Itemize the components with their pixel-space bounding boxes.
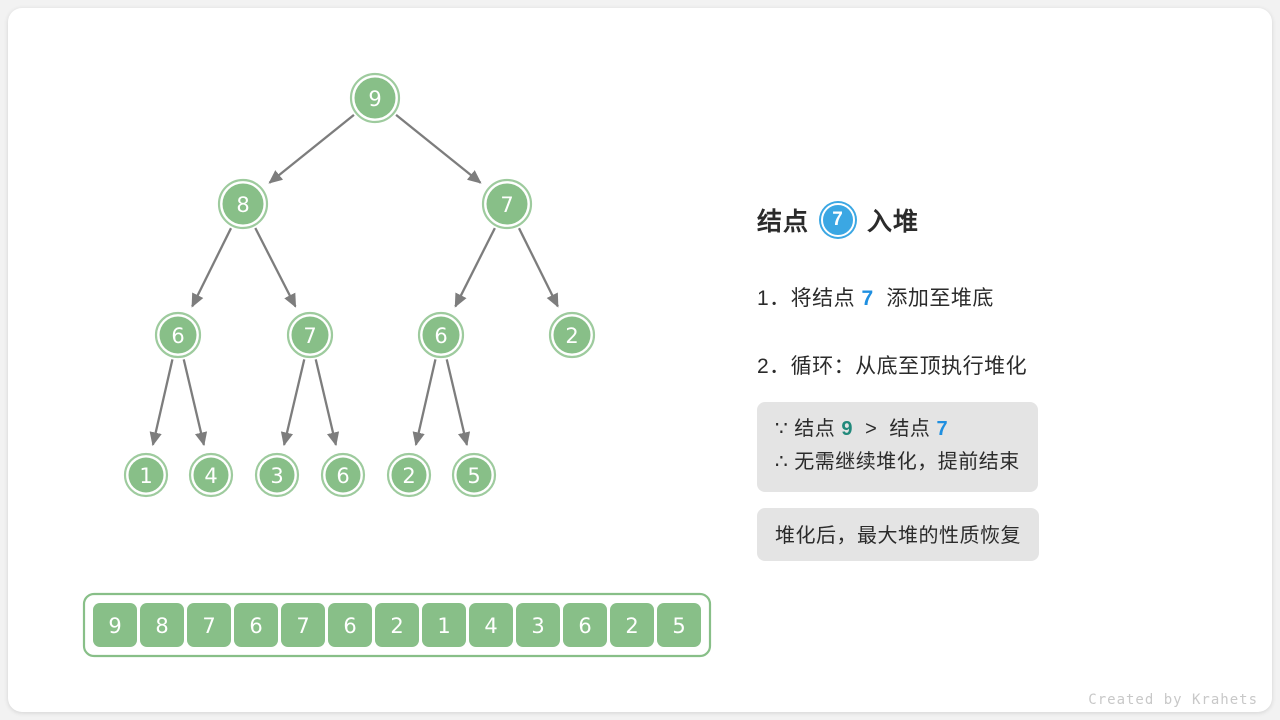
tree-edge (396, 115, 480, 183)
tree-edge (316, 359, 336, 444)
explanation-panel: 结点 7 入堆 1．将结点 7 添加至堆底 2．循环：从底至顶执行堆化 ∵ 结点… (757, 196, 1227, 561)
tree-edge (284, 359, 304, 444)
node-value: 2 (565, 324, 578, 348)
tree-edge (270, 115, 354, 183)
node-value: 8 (236, 193, 249, 217)
tree-edge (447, 359, 467, 444)
node-value: 1 (139, 464, 152, 488)
note-line-1-mid: > 结点 (853, 418, 936, 440)
array-cell[interactable]: 6 (234, 603, 278, 647)
tree-nodes: 9876762143625 (125, 74, 594, 496)
array-cell[interactable]: 1 (422, 603, 466, 647)
note-line-2: ∴ 无需继续堆化，提前结束 (775, 446, 1020, 479)
array-cell[interactable]: 6 (563, 603, 607, 647)
tree-node[interactable]: 4 (190, 454, 232, 496)
step-1-value: 7 (862, 287, 874, 310)
array-cell[interactable]: 2 (375, 603, 419, 647)
array-cell-value: 2 (390, 614, 403, 638)
panel-title: 结点 7 入堆 (757, 196, 1227, 244)
step-1: 1．将结点 7 添加至堆底 (757, 282, 1227, 312)
tree-node[interactable]: 9 (351, 74, 399, 122)
array-cell-value: 8 (155, 614, 168, 638)
panel-title-suffix: 入堆 (867, 202, 919, 238)
node-value: 7 (500, 193, 513, 217)
array-cell-value: 2 (625, 614, 638, 638)
panel-title-badge: 7 (821, 203, 855, 237)
tree-edge (455, 228, 494, 306)
array-cell-value: 6 (578, 614, 591, 638)
array-cell[interactable]: 4 (469, 603, 513, 647)
tree-node[interactable]: 6 (156, 313, 200, 357)
note-line-1-a: 结点 (794, 418, 841, 440)
tree-node[interactable]: 6 (419, 313, 463, 357)
footer-credit: Created by Krahets (1088, 692, 1258, 708)
result-text: 堆化后，最大堆的性质恢复 (775, 519, 1021, 548)
array-cell[interactable]: 3 (516, 603, 560, 647)
array-cell[interactable]: 9 (93, 603, 137, 647)
tree-node[interactable]: 3 (256, 454, 298, 496)
node-value: 5 (467, 464, 480, 488)
node-value: 6 (171, 324, 184, 348)
array-cell[interactable]: 6 (328, 603, 372, 647)
array-cell-value: 7 (202, 614, 215, 638)
node-value: 3 (270, 464, 283, 488)
result-box: 堆化后，最大堆的性质恢复 (757, 508, 1039, 561)
tree-edge (192, 228, 231, 306)
array-cell-value: 3 (531, 614, 544, 638)
tree-edge (153, 359, 173, 444)
node-value: 4 (204, 464, 217, 488)
tree-node[interactable]: 7 (288, 313, 332, 357)
node-value: 9 (368, 87, 381, 111)
because-symbol: ∵ (775, 418, 794, 440)
tree-edge (255, 228, 295, 306)
node-value: 7 (303, 324, 316, 348)
array-cell[interactable]: 8 (140, 603, 184, 647)
array-cell-value: 9 (108, 614, 121, 638)
binary-tree-diagram: 9876762143625 (0, 0, 740, 560)
tree-node[interactable]: 6 (322, 454, 364, 496)
tree-edge (416, 359, 436, 444)
array-cell-value: 1 (437, 614, 450, 638)
node-value: 6 (336, 464, 349, 488)
array-cell-value: 5 (672, 614, 685, 638)
tree-node[interactable]: 2 (550, 313, 594, 357)
tree-node[interactable]: 7 (483, 180, 531, 228)
array-cell[interactable]: 7 (187, 603, 231, 647)
note-parent-value: 9 (841, 418, 853, 440)
step-1-suffix: 添加至堆底 (874, 287, 994, 310)
tree-node[interactable]: 1 (125, 454, 167, 496)
note-box: ∵ 结点 9 > 结点 7 ∴ 无需继续堆化，提前结束 (757, 402, 1038, 492)
tree-node[interactable]: 8 (219, 180, 267, 228)
array-cell-value: 6 (343, 614, 356, 638)
step-2: 2．循环：从底至顶执行堆化 (757, 350, 1227, 380)
screenshot-root: 9876762143625 9876762143625 结点 7 入堆 1．将结… (0, 0, 1280, 720)
note-line-1: ∵ 结点 9 > 结点 7 (775, 413, 1020, 446)
tree-node[interactable]: 5 (453, 454, 495, 496)
array-cell-value: 7 (296, 614, 309, 638)
panel-title-prefix: 结点 (757, 202, 809, 238)
tree-edges (153, 115, 558, 445)
tree-node[interactable]: 2 (388, 454, 430, 496)
tree-edge (519, 228, 558, 306)
array-cell-value: 4 (484, 614, 497, 638)
array-cell[interactable]: 7 (281, 603, 325, 647)
array-cell[interactable]: 5 (657, 603, 701, 647)
step-1-prefix: 1．将结点 (757, 287, 862, 310)
node-value: 6 (434, 324, 447, 348)
array-representation: 9876762143625 (80, 590, 740, 670)
tree-edge (184, 359, 204, 444)
array-cell-value: 6 (249, 614, 262, 638)
array-cell[interactable]: 2 (610, 603, 654, 647)
note-child-value: 7 (936, 418, 948, 440)
node-value: 2 (402, 464, 415, 488)
